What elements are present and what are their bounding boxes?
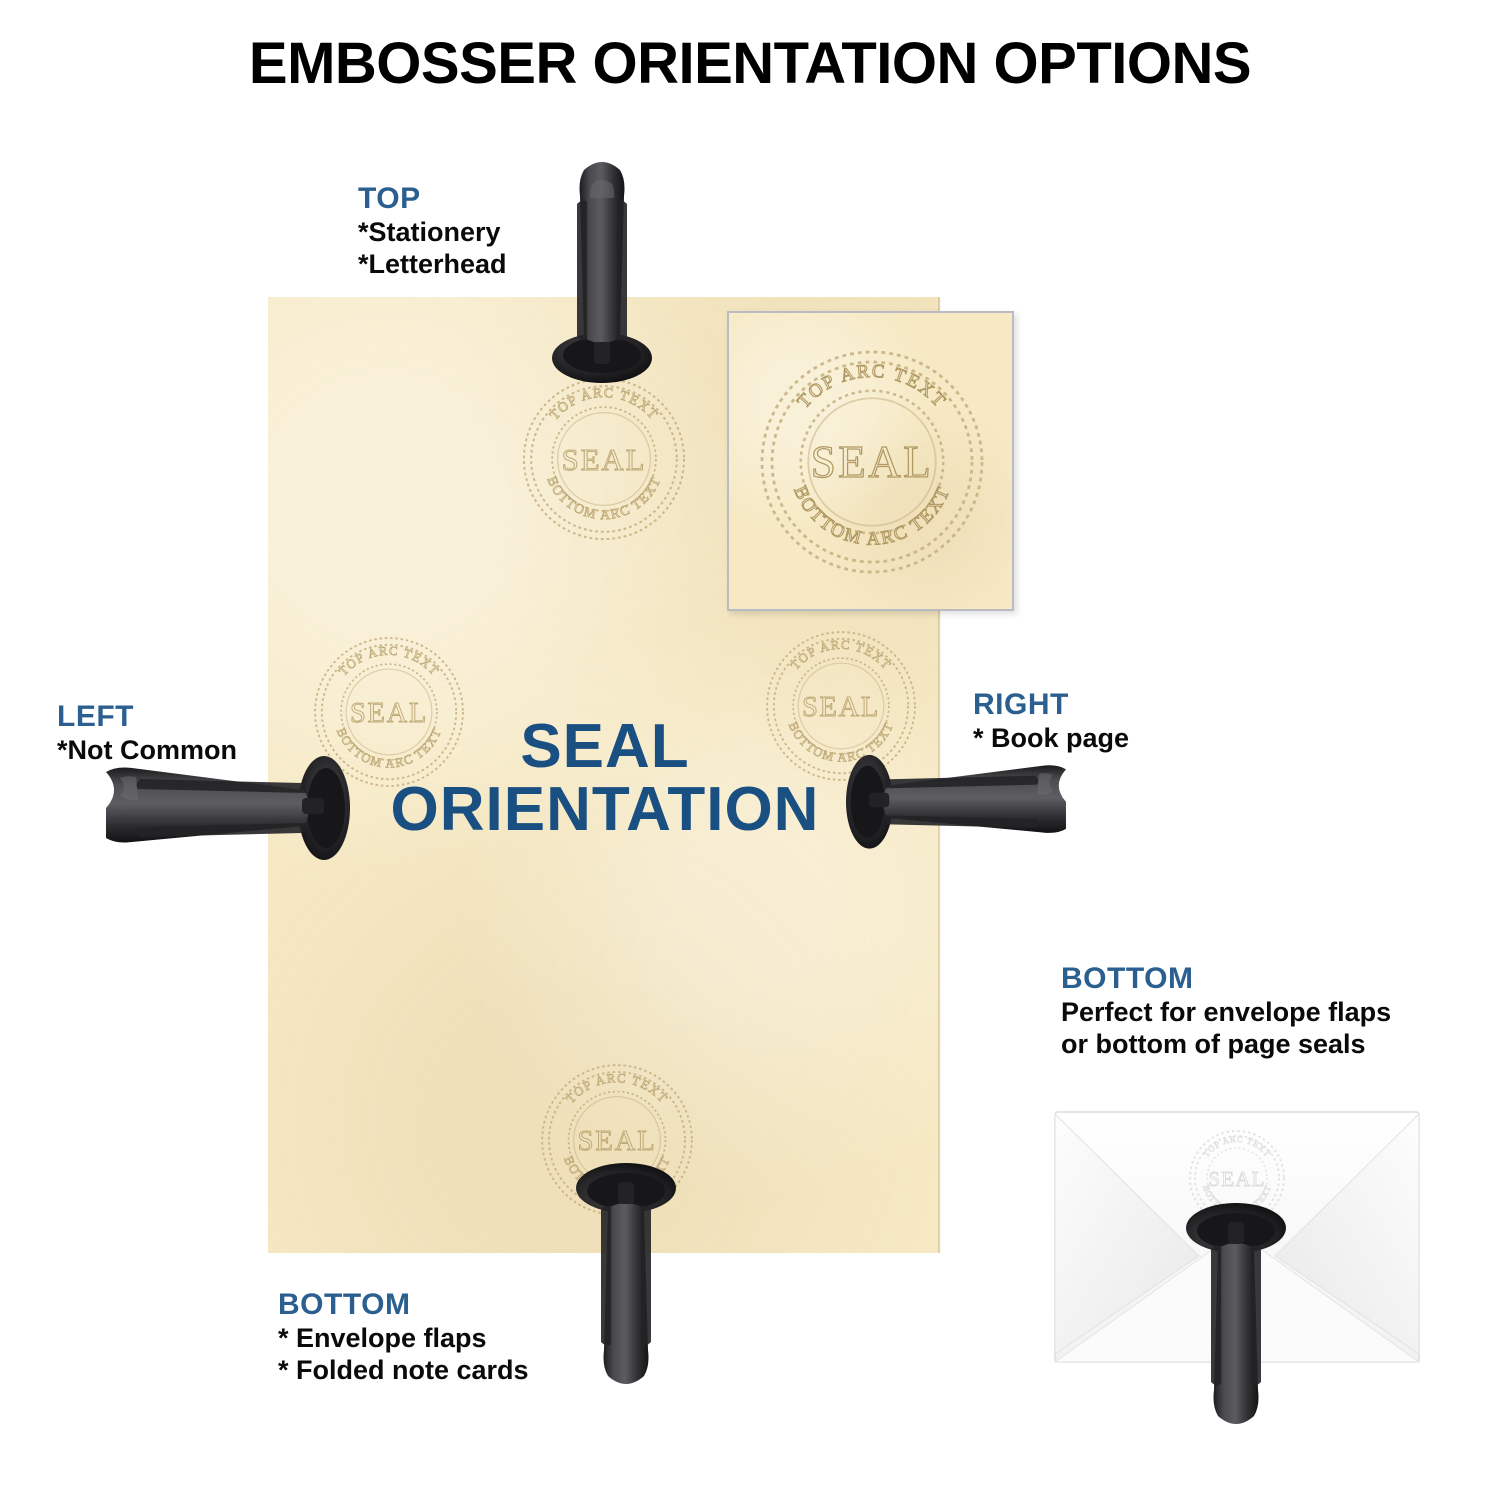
svg-text:SEAL: SEAL <box>562 442 647 477</box>
seal-impression-magnified: TOP ARC TEXT BOTTOM ARC TEXT SEAL <box>747 337 997 587</box>
label-left-heading: LEFT <box>57 700 237 734</box>
label-bottom-right-line1: Perfect for envelope flaps <box>1061 996 1391 1028</box>
infographic-stage: EMBOSSER ORIENTATION OPTIONS <box>0 0 1500 1500</box>
label-bottom-left-line1: * Envelope flaps <box>278 1322 529 1354</box>
embosser-top <box>546 152 658 384</box>
svg-text:SEAL: SEAL <box>577 1125 656 1157</box>
label-bottom-right-line2: or bottom of page seals <box>1061 1028 1391 1060</box>
page-title: EMBOSSER ORIENTATION OPTIONS <box>0 30 1500 97</box>
label-right-heading: RIGHT <box>973 688 1129 722</box>
seal-magnified-callout: TOP ARC TEXT BOTTOM ARC TEXT SEAL <box>727 311 1014 611</box>
label-left-line1: *Not Common <box>57 734 237 766</box>
svg-text:SEAL: SEAL <box>350 698 428 729</box>
svg-text:SEAL: SEAL <box>811 437 934 487</box>
label-bottom-right-heading: BOTTOM <box>1061 962 1391 996</box>
label-left: LEFT *Not Common <box>57 700 237 766</box>
embosser-left <box>86 752 350 860</box>
label-bottom-left: BOTTOM * Envelope flaps * Folded note ca… <box>278 1288 529 1386</box>
label-right-line1: * Book page <box>973 722 1129 754</box>
svg-text:BOTTOM ARC TEXT: BOTTOM ARC TEXT <box>334 726 445 771</box>
label-top: TOP *Stationery *Letterhead <box>358 182 507 280</box>
embosser-bottom <box>570 1160 682 1396</box>
label-top-line2: *Letterhead <box>358 248 507 280</box>
svg-text:SEAL: SEAL <box>802 692 880 723</box>
embosser-envelope <box>1180 1187 1292 1449</box>
svg-text:BOTTOM ARC TEXT: BOTTOM ARC TEXT <box>789 483 954 550</box>
label-right: RIGHT * Book page <box>973 688 1129 754</box>
label-top-line1: *Stationery <box>358 216 507 248</box>
label-bottom-left-heading: BOTTOM <box>278 1288 529 1322</box>
svg-text:TOP ARC TEXT: TOP ARC TEXT <box>793 361 950 413</box>
seal-impression-top: TOP ARC TEXT BOTTOM ARC TEXT SEAL <box>513 368 695 550</box>
label-bottom-left-line2: * Folded note cards <box>278 1354 529 1386</box>
svg-text:BOTTOM ARC TEXT: BOTTOM ARC TEXT <box>544 474 663 522</box>
embosser-right <box>846 748 1084 852</box>
label-top-heading: TOP <box>358 182 507 216</box>
label-bottom-right: BOTTOM Perfect for envelope flaps or bot… <box>1061 962 1391 1060</box>
